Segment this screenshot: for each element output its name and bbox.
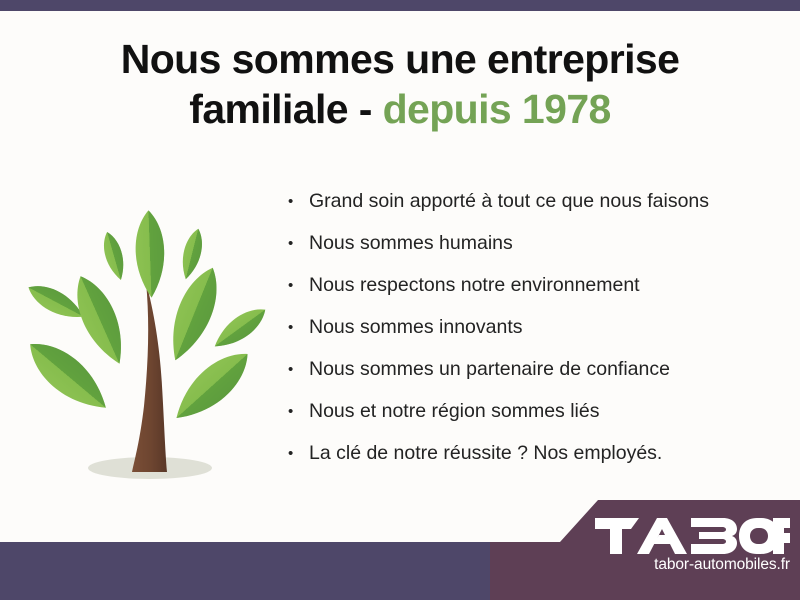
page-title: Nous sommes une entreprise familiale - d…: [0, 34, 800, 134]
page-title-line-2-plain: familiale -: [189, 86, 382, 132]
slide-canvas: Nous sommes une entreprise familiale - d…: [0, 0, 800, 600]
list-item: Nous sommes humains: [288, 232, 788, 255]
benefits-list: Grand soin apporté à tout ce que nous fa…: [288, 190, 788, 484]
tree-trunk: [132, 282, 167, 472]
logo-text-group: tabor-automobiles.fr: [490, 500, 800, 600]
brand-logo[interactable]: tabor-automobiles.fr: [490, 500, 800, 600]
tree-illustration: [22, 196, 278, 492]
list-item: Nous sommes innovants: [288, 316, 788, 339]
page-title-line-2: familiale - depuis 1978: [0, 84, 800, 134]
logo-tagline: tabor-automobiles.fr: [595, 556, 790, 574]
tabor-wordmark-icon: [595, 514, 790, 556]
list-item: Nous respectons notre environnement: [288, 274, 788, 297]
page-title-line-1: Nous sommes une entreprise: [0, 34, 800, 84]
list-item: Grand soin apporté à tout ce que nous fa…: [288, 190, 788, 213]
list-item: Nous sommes un partenaire de confiance: [288, 358, 788, 381]
top-accent-band: [0, 0, 800, 11]
list-item: La clé de notre réussite ? Nos employés.: [288, 442, 788, 465]
list-item: Nous et notre région sommes liés: [288, 400, 788, 423]
page-title-accent: depuis 1978: [383, 86, 611, 132]
